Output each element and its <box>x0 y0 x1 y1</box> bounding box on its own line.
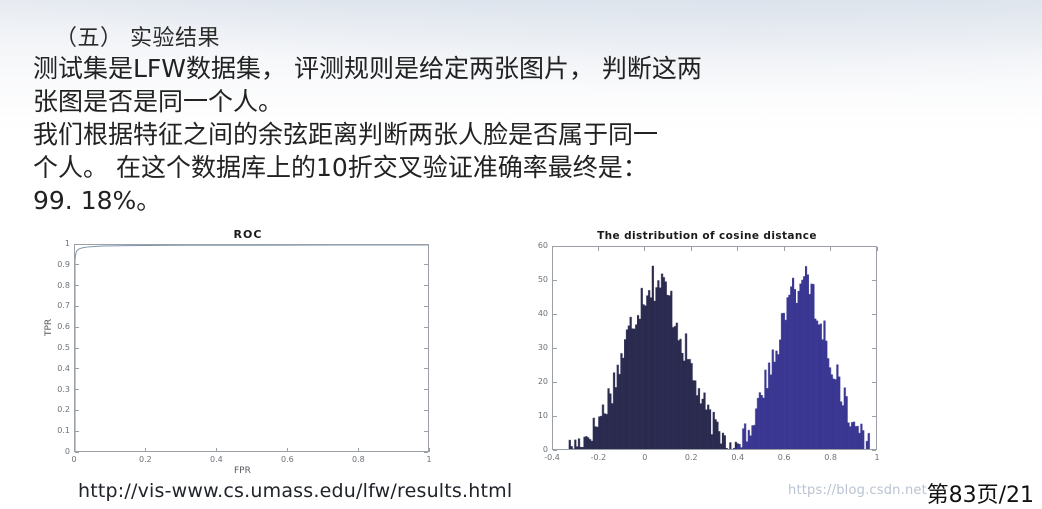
hist-ytick-mark-r-5 <box>872 280 876 281</box>
roc-xtick-label-5: 1 <box>423 455 435 464</box>
body-line-4: 个人。 在这个数据库上的10折交叉验证准确率最终是： <box>33 151 1023 184</box>
cosine-distance-histogram: The distribution of cosine distance -0.4… <box>528 228 886 478</box>
hist-xtick-label-7: 1 <box>868 453 886 462</box>
hist-ytick-mark-0 <box>553 450 557 451</box>
roc-curve-line <box>75 245 428 451</box>
roc-ytick-label-5: 0.5 <box>50 343 70 352</box>
roc-ytick-label-9: 0.9 <box>50 260 70 269</box>
roc-ytick-mark-0 <box>75 452 79 453</box>
hist-ytick-mark-1 <box>553 416 557 417</box>
hist-xtick-label-6: 0.8 <box>822 453 840 462</box>
hist-ytick-mark-r-2 <box>872 382 876 383</box>
hist-ytick-mark-5 <box>553 280 557 281</box>
roc-ytick-label-8: 0.8 <box>50 281 70 290</box>
roc-xtick-mark-5 <box>429 448 430 452</box>
roc-plot-area <box>74 244 429 452</box>
page-number: 第83页/21 <box>927 477 1034 509</box>
roc-ytick-mark-1 <box>75 431 79 432</box>
body-line-2: 张图是否是同一个人。 <box>33 85 1023 118</box>
roc-ytick-label-1: 0.1 <box>50 426 70 435</box>
roc-chart: ROC TPR 00.20.40.60.8100.10.20.30.40.50.… <box>48 228 448 478</box>
slide-content: （五） 实验结果 测试集是LFW数据集， 评测规则是给定两张图片， 判断这两 张… <box>0 0 1042 507</box>
hist-ytick-label-4: 40 <box>529 309 548 318</box>
hist-xtick-mark-t-0 <box>552 247 553 251</box>
roc-ytick-mark-10 <box>75 244 79 245</box>
hist-ytick-label-2: 20 <box>529 377 548 386</box>
roc-ytick-mark-r-4 <box>424 368 428 369</box>
histogram-title: The distribution of cosine distance <box>528 230 886 242</box>
roc-chart-title: ROC <box>48 228 448 241</box>
hist-xtick-mark-t-2 <box>644 247 645 251</box>
roc-ytick-mark-r-5 <box>424 348 428 349</box>
hist-ytick-label-3: 30 <box>529 343 548 352</box>
hist-xtick-label-1: -0.2 <box>589 453 607 462</box>
hist-ytick-mark-6 <box>553 246 557 247</box>
roc-xtick-mark-2 <box>216 448 217 452</box>
roc-ytick-mark-7 <box>75 306 79 307</box>
lfw-results-url[interactable]: http://vis-www.cs.umass.edu/lfw/results.… <box>78 480 512 502</box>
hist-ytick-label-0: 0 <box>529 445 548 454</box>
hist-ytick-mark-r-4 <box>872 314 876 315</box>
hist-ytick-mark-3 <box>553 348 557 349</box>
histogram-plot-area <box>552 246 877 450</box>
roc-ytick-label-10: 1 <box>50 239 70 248</box>
roc-ytick-mark-r-9 <box>424 264 428 265</box>
hist-ytick-mark-4 <box>553 314 557 315</box>
hist-ytick-mark-2 <box>553 382 557 383</box>
hist-xtick-mark-t-3 <box>691 247 692 251</box>
hist-xtick-label-2: 0 <box>636 453 654 462</box>
hist-xtick-mark-t-7 <box>877 247 878 251</box>
body-line-3: 我们根据特征之间的余弦距离判断两张人脸是否属于同一 <box>33 118 1023 151</box>
roc-ytick-label-2: 0.2 <box>50 405 70 414</box>
roc-ytick-mark-r-3 <box>424 389 428 390</box>
hist-xtick-mark-t-5 <box>784 247 785 251</box>
hist-xtick-mark-t-4 <box>737 247 738 251</box>
hist-ytick-mark-r-6 <box>872 246 876 247</box>
roc-ytick-label-6: 0.6 <box>50 322 70 331</box>
hist-xtick-label-0: -0.4 <box>543 453 561 462</box>
roc-ytick-mark-r-10 <box>424 244 428 245</box>
hist-xtick-mark-t-6 <box>830 247 831 251</box>
hist-xtick-mark-t-1 <box>598 247 599 251</box>
section-heading: （五） 实验结果 <box>55 20 220 52</box>
roc-ytick-mark-9 <box>75 264 79 265</box>
roc-xtick-label-1: 0.2 <box>139 455 151 464</box>
roc-xtick-label-3: 0.6 <box>281 455 293 464</box>
roc-ytick-mark-8 <box>75 285 79 286</box>
roc-ytick-mark-r-7 <box>424 306 428 307</box>
roc-xtick-label-4: 0.8 <box>352 455 364 464</box>
roc-ytick-mark-5 <box>75 348 79 349</box>
roc-ytick-mark-r-2 <box>424 410 428 411</box>
roc-ytick-label-3: 0.3 <box>50 385 70 394</box>
roc-xtick-label-0: 0 <box>68 455 80 464</box>
roc-xtick-label-2: 0.4 <box>210 455 222 464</box>
roc-ytick-mark-r-6 <box>424 327 428 328</box>
hist-ytick-mark-r-3 <box>872 348 876 349</box>
roc-ytick-label-0: 0 <box>50 447 70 456</box>
roc-x-axis-label: FPR <box>234 466 251 476</box>
hist-xtick-label-4: 0.4 <box>729 453 747 462</box>
roc-ytick-mark-r-8 <box>424 285 428 286</box>
body-line-5: 99. 18%。 <box>33 184 1023 217</box>
hist-xtick-label-3: 0.2 <box>682 453 700 462</box>
hist-ytick-label-1: 10 <box>529 411 548 420</box>
roc-ytick-mark-2 <box>75 410 79 411</box>
hist-ytick-label-6: 60 <box>529 241 548 250</box>
roc-ytick-label-7: 0.7 <box>50 301 70 310</box>
hist-xtick-label-5: 0.6 <box>775 453 793 462</box>
csdn-watermark: https://blog.csdn.net <box>788 483 927 498</box>
roc-ytick-mark-6 <box>75 327 79 328</box>
body-text: 测试集是LFW数据集， 评测规则是给定两张图片， 判断这两 张图是否是同一个人。… <box>33 52 1023 217</box>
roc-xtick-mark-1 <box>145 448 146 452</box>
body-line-1: 测试集是LFW数据集， 评测规则是给定两张图片， 判断这两 <box>33 52 1023 85</box>
histogram-bars <box>553 247 876 449</box>
roc-ytick-label-4: 0.4 <box>50 364 70 373</box>
hist-ytick-label-5: 50 <box>529 275 548 284</box>
roc-xtick-mark-4 <box>358 448 359 452</box>
hist-ytick-mark-r-1 <box>872 416 876 417</box>
hist-ytick-mark-r-0 <box>872 450 876 451</box>
roc-ytick-mark-3 <box>75 389 79 390</box>
roc-ytick-mark-r-0 <box>424 452 428 453</box>
roc-ytick-mark-r-1 <box>424 431 428 432</box>
roc-ytick-mark-4 <box>75 368 79 369</box>
roc-xtick-mark-3 <box>287 448 288 452</box>
